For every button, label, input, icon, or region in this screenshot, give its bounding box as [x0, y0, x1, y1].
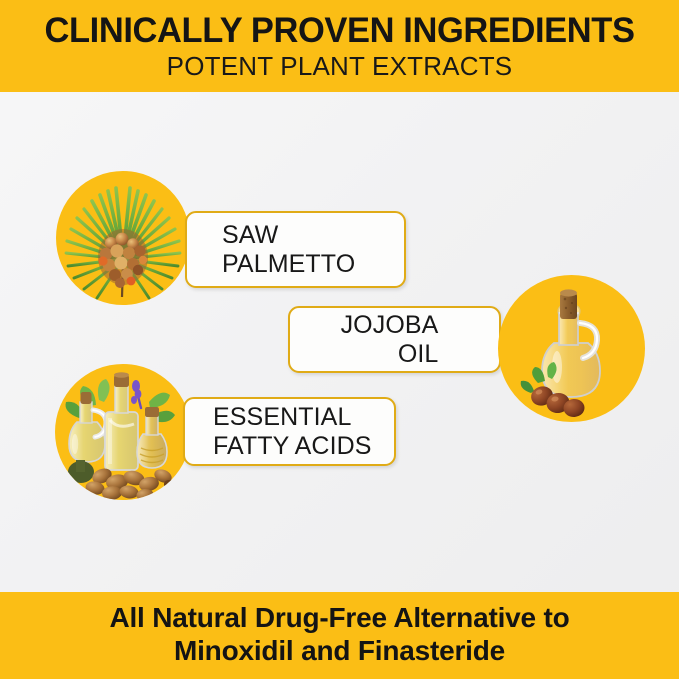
- footer-banner: All Natural Drug-Free Alternative to Min…: [0, 592, 679, 679]
- essential-fatty-acids-label: ESSENTIAL FATTY ACIDS: [213, 403, 372, 460]
- header-banner: CLINICALLY PROVEN INGREDIENTS POTENT PLA…: [0, 0, 679, 92]
- jojoba-oil-label-line2: OIL: [341, 340, 439, 369]
- saw-palmetto-label-line2: PALMETTO: [222, 250, 355, 279]
- footer-line-1: All Natural Drug-Free Alternative to: [109, 602, 569, 634]
- essential-fatty-acids-label-line1: ESSENTIAL: [213, 403, 372, 432]
- jojoba-oil-bottle-icon: [498, 275, 645, 422]
- jojoba-oil-label-line1: JOJOBA: [341, 311, 439, 340]
- essential-fatty-acids-label-box: ESSENTIAL FATTY ACIDS: [183, 397, 396, 466]
- saw-palmetto-label-line1: SAW: [222, 221, 355, 250]
- jojoba-oil-label: JOJOBA OIL: [341, 311, 439, 368]
- saw-palmetto-label-box: SAW PALMETTO: [185, 211, 406, 288]
- saw-palmetto-label: SAW PALMETTO: [222, 221, 355, 278]
- saw-palmetto-frond-icon: [56, 171, 190, 305]
- footer-line-2: Minoxidil and Finasteride: [174, 635, 505, 667]
- jojoba-oil-image-circle: [498, 275, 645, 422]
- oil-bottles-nuts-icon: [55, 364, 191, 500]
- ingredients-infographic: CLINICALLY PROVEN INGREDIENTS POTENT PLA…: [0, 0, 679, 679]
- essential-fatty-acids-image-circle: [55, 364, 191, 500]
- page-title: CLINICALLY PROVEN INGREDIENTS: [44, 13, 634, 49]
- jojoba-oil-label-box: JOJOBA OIL: [288, 306, 501, 373]
- page-subtitle: POTENT PLANT EXTRACTS: [167, 52, 513, 81]
- essential-fatty-acids-label-line2: FATTY ACIDS: [213, 432, 372, 461]
- saw-palmetto-image-circle: [56, 171, 190, 305]
